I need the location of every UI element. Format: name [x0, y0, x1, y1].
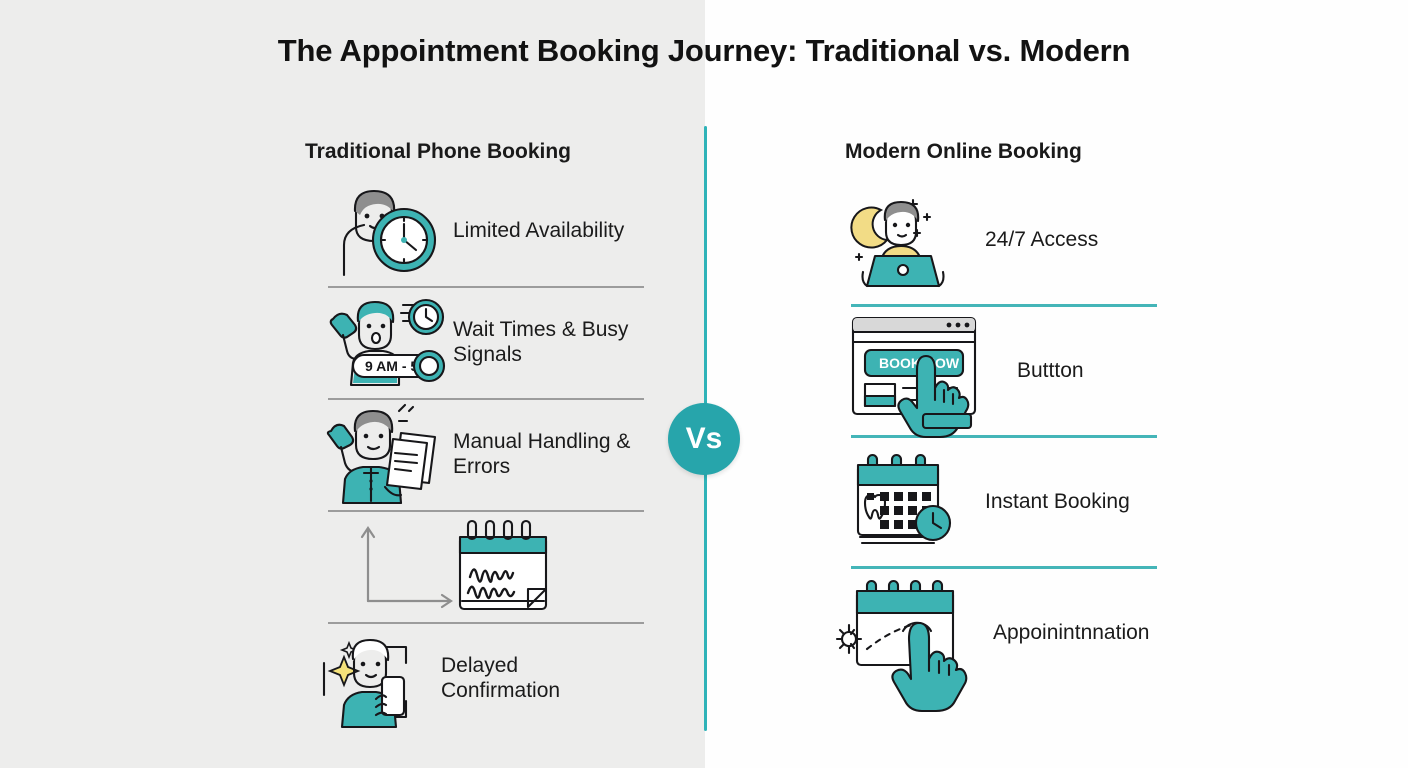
- list-item-label: Buttton: [1017, 359, 1084, 384]
- traditional-column: Traditional Phone Booking: [300, 140, 650, 734]
- list-item-label: Appoinintnnation: [993, 621, 1149, 646]
- versus-badge-label: Vs: [686, 422, 723, 456]
- moon-laptop-person-icon: [845, 186, 965, 294]
- list-item-label: Delayed Confirmation: [441, 654, 626, 704]
- calendar-tap-cursor-icon: [845, 577, 973, 689]
- person-on-phone-hours-icon: 9 AM - 5 PM: [322, 293, 447, 393]
- list-item[interactable]: Delayed Confirmation: [300, 624, 650, 734]
- versus-badge: Vs: [668, 403, 740, 475]
- list-item[interactable]: Instant Booking: [845, 438, 1205, 566]
- person-with-clock-icon: [322, 181, 447, 281]
- list-item-label: Manual Handling & Errors: [453, 430, 638, 480]
- list-item-label: 24/7 Access: [985, 228, 1098, 253]
- list-item-label: Limited Availability: [453, 219, 624, 244]
- page-title: The Appointment Booking Journey: Traditi…: [0, 33, 1408, 69]
- modern-column-heading: Modern Online Booking: [845, 140, 1205, 164]
- browser-book-now-cursor-icon: BOOK NOW: [845, 312, 997, 430]
- list-item[interactable]: [300, 512, 650, 622]
- person-waiting-phone-icon: [310, 629, 435, 729]
- arrow-and-handwritten-calendar-icon: [300, 517, 550, 617]
- traditional-column-heading: Traditional Phone Booking: [305, 140, 650, 164]
- modern-column: Modern Online Booking: [845, 140, 1205, 697]
- infographic-canvas: The Appointment Booking Journey: Traditi…: [0, 0, 1408, 768]
- list-item[interactable]: 24/7 Access: [845, 176, 1205, 304]
- modern-item-list: 24/7 Access: [845, 176, 1205, 697]
- list-item[interactable]: Limited Availability: [300, 176, 650, 286]
- traditional-item-list: Limited Availability: [300, 176, 650, 734]
- list-item[interactable]: 9 AM - 5 PM Wait Times & Busy Signals: [300, 288, 650, 398]
- list-item-label: Instant Booking: [985, 490, 1130, 515]
- list-item[interactable]: Manual Handling & Errors: [300, 400, 650, 510]
- list-item-label: Wait Times & Busy Signals: [453, 318, 638, 368]
- person-phone-papers-icon: [322, 405, 447, 505]
- list-item[interactable]: Appoinintnnation: [845, 569, 1205, 697]
- list-item[interactable]: BOOK NOW Buttton: [845, 307, 1205, 435]
- calendar-tooth-clock-icon: [845, 448, 965, 556]
